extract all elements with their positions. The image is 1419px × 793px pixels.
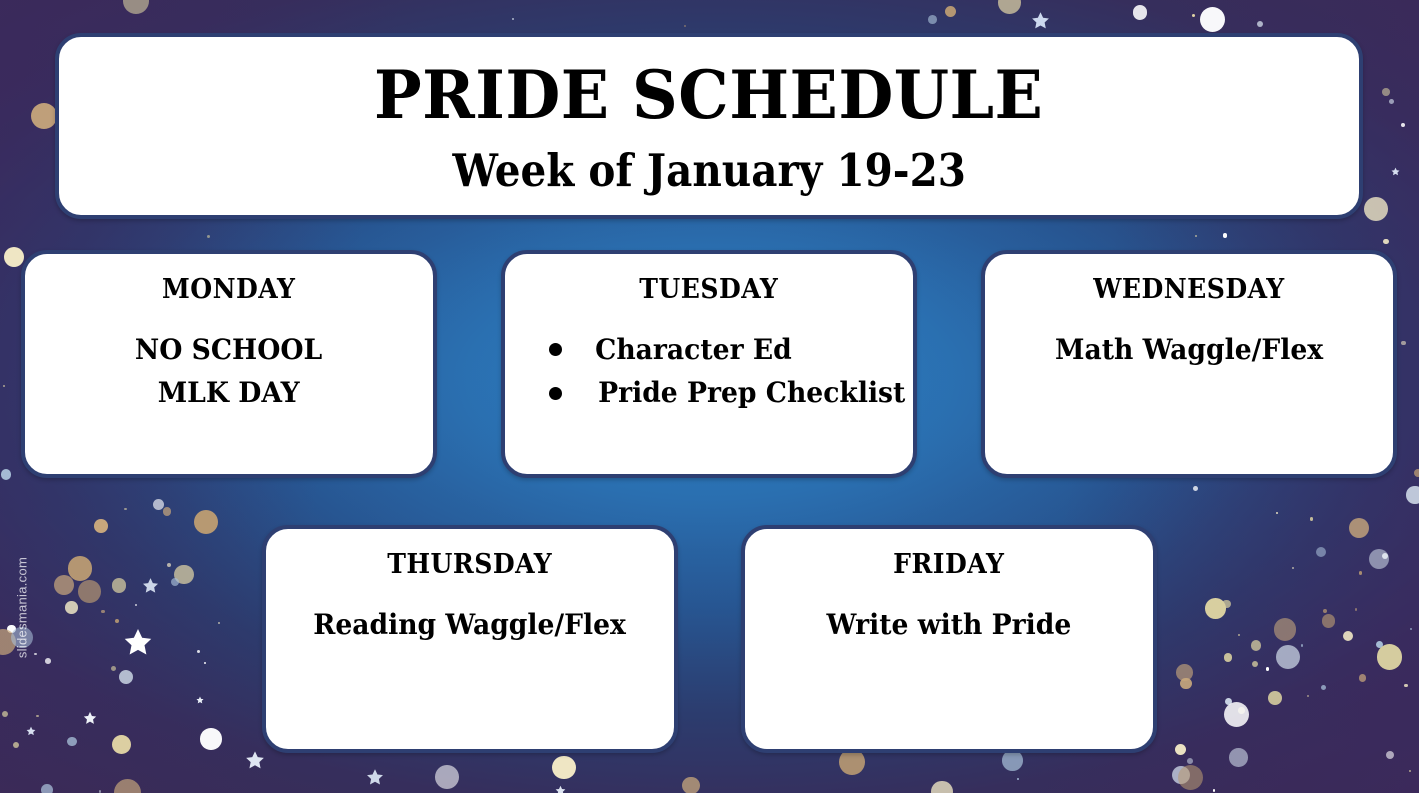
confetti-dot [682, 777, 700, 793]
bullet-list: Character EdPride Prep Checklist [505, 335, 913, 408]
confetti-dot [1414, 469, 1419, 477]
slide-canvas: PRIDE SCHEDULE Week of January 19-23 MON… [0, 0, 1419, 793]
confetti-dot [1175, 744, 1186, 755]
list-item-label: Character Ed [595, 335, 792, 364]
confetti-dot [1192, 14, 1195, 17]
confetti-dot [1383, 239, 1388, 244]
confetti-dot [45, 658, 51, 664]
title-card: PRIDE SCHEDULE Week of January 19-23 [55, 33, 1363, 219]
confetti-dot [1176, 664, 1193, 681]
page-subtitle: Week of January 19-23 [452, 148, 965, 193]
confetti-dot [1266, 667, 1269, 670]
watermark-slidesmania: slidesmania.com [15, 538, 30, 678]
confetti-dot [1224, 702, 1249, 727]
confetti-dot [34, 653, 36, 655]
confetti-dot [36, 715, 39, 718]
star-icon [555, 781, 566, 792]
confetti-dot [435, 765, 459, 789]
confetti-dot [194, 510, 218, 534]
day-card-thursday[interactable]: THURSDAY Reading Waggle/Flex [262, 525, 678, 753]
confetti-dot [1257, 21, 1263, 27]
confetti-dot [111, 666, 116, 671]
day-card-friday[interactable]: FRIDAY Write with Pride [741, 525, 1157, 753]
day-title: WEDNESDAY [1093, 274, 1284, 305]
bullet-dot-icon [549, 387, 562, 400]
day-line: Write with Pride [827, 610, 1072, 641]
confetti-dot [1213, 789, 1215, 791]
star-icon [366, 768, 384, 786]
day-card-monday[interactable]: MONDAY NO SCHOOLMLK DAY [21, 250, 437, 478]
confetti-dot [1224, 653, 1232, 661]
star-icon [245, 750, 265, 770]
confetti-dot [1377, 644, 1403, 670]
star-icon [1391, 161, 1400, 170]
confetti-dot [1017, 778, 1019, 780]
confetti-dot [1222, 600, 1230, 608]
confetti-dot [1404, 684, 1408, 688]
confetti-dot [1276, 512, 1278, 514]
day-line: Reading Waggle/Flex [314, 610, 627, 641]
list-item-label: Pride Prep Checklist [598, 378, 905, 407]
confetti-dot [1223, 233, 1227, 237]
confetti-dot [1310, 517, 1313, 520]
star-icon [26, 721, 36, 731]
list-item: Character Ed [541, 335, 797, 364]
star-icon [1031, 11, 1050, 30]
confetti-dot [931, 781, 953, 793]
confetti-dot [1274, 618, 1297, 641]
confetti-dot [1401, 123, 1405, 127]
confetti-dot [684, 25, 686, 27]
day-title: FRIDAY [893, 549, 1004, 580]
confetti-dot [200, 728, 221, 749]
confetti-dot [1386, 751, 1394, 759]
confetti-dot [67, 737, 76, 746]
confetti-dot [1292, 567, 1294, 569]
confetti-dot [1401, 341, 1406, 346]
confetti-dot [1359, 674, 1366, 681]
confetti-dot [1200, 7, 1225, 32]
confetti-dot [2, 711, 8, 717]
confetti-dot [3, 385, 5, 387]
day-body: NO SCHOOLMLK DAY [25, 335, 433, 409]
confetti-dot [167, 563, 171, 567]
confetti-dot [1178, 765, 1203, 790]
confetti-dot [112, 735, 131, 754]
star-icon [83, 710, 97, 724]
confetti-dot [1382, 88, 1389, 95]
confetti-dot [114, 779, 141, 793]
day-body: Reading Waggle/Flex [266, 610, 674, 641]
confetti-dot [1323, 609, 1327, 613]
day-line: Math Waggle/Flex [1055, 335, 1323, 366]
page-title: PRIDE SCHEDULE [374, 62, 1043, 128]
confetti-dot [1252, 661, 1258, 667]
confetti-dot [1410, 628, 1412, 630]
confetti-dot [124, 508, 126, 510]
confetti-dot [1364, 197, 1388, 221]
list-item: Pride Prep Checklist [541, 378, 913, 407]
confetti-dot [112, 578, 127, 593]
confetti-dot [1343, 631, 1353, 641]
confetti-dot [1369, 549, 1389, 569]
star-icon [123, 627, 153, 657]
confetti-dot [123, 0, 149, 14]
confetti-dot [1409, 770, 1411, 772]
confetti-dot [101, 610, 105, 614]
confetti-dot [1276, 645, 1300, 669]
confetti-dot [1187, 758, 1193, 764]
day-card-tuesday[interactable]: TUESDAY Character EdPride Prep Checklist [501, 250, 917, 478]
day-line: MLK DAY [158, 378, 300, 409]
confetti-dot [204, 662, 206, 664]
confetti-dot [119, 670, 133, 684]
day-body: Character EdPride Prep Checklist [505, 335, 913, 408]
confetti-dot [218, 622, 220, 624]
confetti-dot [1389, 99, 1394, 104]
confetti-dot [1133, 5, 1148, 20]
confetti-dot [171, 578, 179, 586]
confetti-dot [1322, 614, 1335, 627]
day-body: Math Waggle/Flex [985, 335, 1393, 366]
confetti-dot [163, 507, 172, 516]
confetti-dot [78, 580, 100, 602]
confetti-dot [31, 103, 57, 129]
confetti-dot [1238, 634, 1241, 637]
confetti-dot [197, 650, 200, 653]
confetti-dot [1268, 691, 1282, 705]
day-body: Write with Pride [745, 610, 1153, 641]
confetti-dot [945, 6, 956, 17]
confetti-dot [135, 604, 137, 606]
confetti-dot [1301, 644, 1303, 646]
confetti-dot [928, 15, 937, 24]
confetti-dot [1, 469, 11, 479]
confetti-dot [13, 742, 19, 748]
confetti-dot [94, 519, 108, 533]
confetti-dot [1229, 748, 1248, 767]
confetti-dot [1307, 695, 1309, 697]
day-line: NO SCHOOL [135, 335, 322, 366]
confetti-dot [115, 619, 119, 623]
confetti-dot [65, 601, 77, 613]
confetti-dot [1251, 640, 1261, 650]
confetti-dot [1355, 608, 1357, 610]
confetti-dot [68, 556, 93, 581]
day-title: MONDAY [162, 274, 295, 305]
confetti-dot [1002, 750, 1023, 771]
star-icon [142, 577, 159, 594]
confetti-dot [1321, 685, 1326, 690]
confetti-dot [1195, 235, 1197, 237]
confetti-dot [512, 18, 514, 20]
confetti-dot [1359, 571, 1362, 574]
bullet-dot-icon [549, 343, 562, 356]
confetti-dot [153, 499, 164, 510]
day-title: TUESDAY [639, 274, 778, 305]
confetti-dot [4, 247, 25, 268]
star-icon [196, 689, 204, 697]
confetti-dot [41, 784, 53, 793]
day-card-wednesday[interactable]: WEDNESDAY Math Waggle/Flex [981, 250, 1397, 478]
confetti-dot [1406, 486, 1419, 503]
confetti-dot [1316, 547, 1326, 557]
confetti-dot [207, 235, 210, 238]
confetti-dot [1193, 486, 1198, 491]
confetti-dot [552, 756, 576, 780]
confetti-dot [998, 0, 1021, 14]
day-title: THURSDAY [388, 549, 553, 580]
confetti-dot [1349, 518, 1369, 538]
confetti-dot [99, 790, 101, 792]
confetti-dot [839, 749, 865, 775]
